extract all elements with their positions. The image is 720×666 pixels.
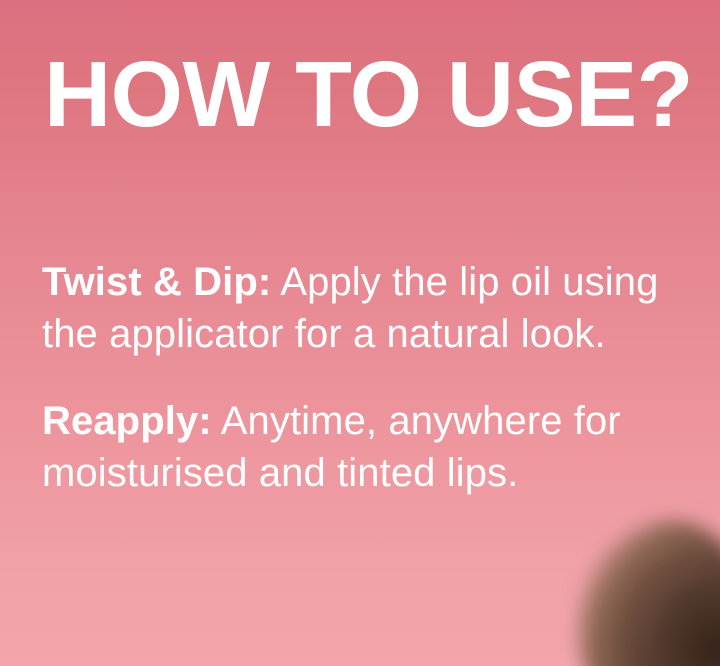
instruction-list: Twist & Dip: Apply the lip oil using the… <box>42 256 668 499</box>
instruction-step-label: Reapply: <box>42 399 212 443</box>
instruction-step-label: Twist & Dip: <box>42 260 271 304</box>
poster-content: HOW TO USE? Twist & Dip: Apply the lip o… <box>0 0 720 666</box>
how-to-use-promo-card: HOW TO USE? Twist & Dip: Apply the lip o… <box>0 0 720 666</box>
page-title: HOW TO USE? <box>44 48 704 141</box>
instruction-step: Twist & Dip: Apply the lip oil using the… <box>42 256 668 360</box>
instruction-step: Reapply: Anytime, anywhere for moisturis… <box>42 395 668 499</box>
